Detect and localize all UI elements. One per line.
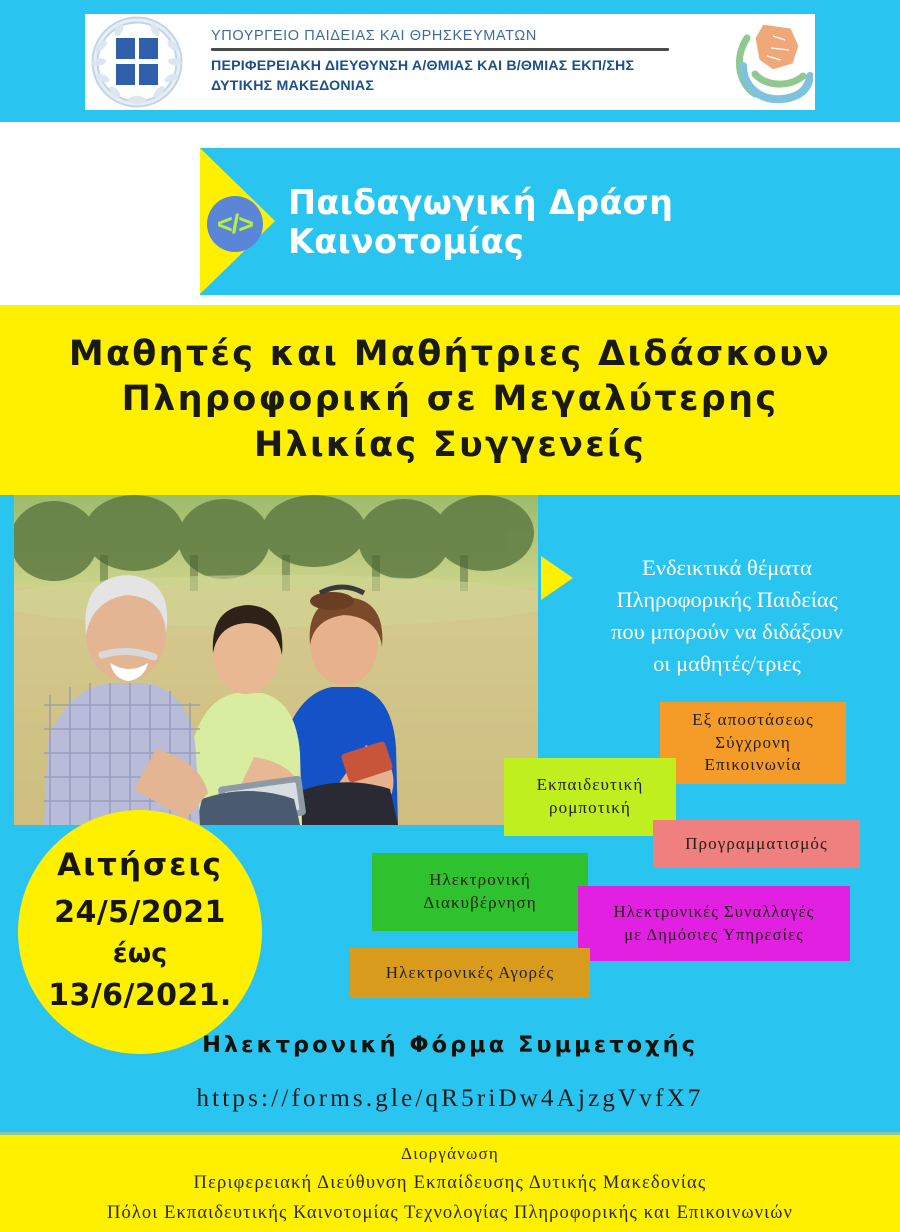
topic-label-line-2: ρομποτική: [537, 797, 644, 820]
footer-organizer-label: Διοργάνωση: [401, 1144, 499, 1164]
topic-box-e-government: Ηλεκτρονική Διακυβέρνηση: [372, 853, 588, 931]
topic-label-line-3: Επικοινωνία: [692, 754, 814, 777]
banner-title: Παιδαγωγική Δράση Καινοτομίας: [288, 148, 892, 295]
topic-label-line-1: Ηλεκτρονικές Αγορές: [386, 962, 554, 985]
topic-box-remote-communication: Εξ αποστάσεως Σύγχρονη Επικοινωνία: [660, 702, 846, 784]
greek-coat-of-arms-icon: [89, 16, 185, 108]
topic-label-line-2: Σύγχρονη: [692, 732, 814, 755]
topic-box-educational-robotics: Εκπαιδευτική ρομποτική: [504, 758, 676, 836]
topic-label-line-2: με Δημόσιες Υπηρεσίες: [614, 924, 815, 946]
applications-start-date: 24/5/2021: [54, 891, 226, 935]
footer-organizer-name: Περιφερειακή Διεύθυνση Εκπαίδευσης Δυτικ…: [194, 1173, 707, 1194]
header-card: ΥΠΟΥΡΓΕΙΟ ΠΑΙΔΕΙΑΣ ΚΑΙ ΘΡΗΣΚΕΥΜΑΤΩΝ ΠΕΡΙ…: [85, 14, 815, 110]
description-line-1: Ενδεικτικά θέματα: [560, 552, 894, 584]
applications-title: Αιτήσεις: [57, 847, 223, 883]
topic-label-line-1: Εκπαιδευτική: [537, 774, 644, 797]
applications-end-date: 13/6/2021.: [48, 974, 231, 1018]
description-line-2: Πληροφορικής Παιδείας: [560, 584, 894, 616]
footer-poles-name: Πόλοι Εκπαιδευτικής Καινοτομίας Τεχνολογ…: [107, 1203, 793, 1224]
form-url-link[interactable]: https://forms.gle/qR5riDw4AjzgVvfX7: [0, 1085, 900, 1113]
description-line-3: που μπορούν να διδάξουν: [560, 616, 894, 648]
topic-label-line-1: Εξ αποστάσεως: [692, 709, 814, 732]
main-title-block: Μαθητές και Μαθήτριες Διδάσκουν Πληροφορ…: [0, 305, 900, 495]
footer: Διοργάνωση Περιφερειακή Διεύθυνση Εκπαίδ…: [0, 1132, 900, 1232]
regional-directorate-line2: ΔΥΤΙΚΗΣ ΜΑΚΕΔΟΝΙΑΣ: [211, 77, 725, 96]
western-macedonia-region-logo-icon: [733, 16, 813, 108]
topic-box-e-markets: Ηλεκτρονικές Αγορές: [350, 948, 590, 998]
ministry-title: ΥΠΟΥΡΓΕΙΟ ΠΑΙΔΕΙΑΣ ΚΑΙ ΘΡΗΣΚΕΥΜΑΤΩΝ: [211, 28, 725, 44]
main-title-line-2: Πληροφορική σε Μεγαλύτερης: [122, 377, 779, 422]
topic-label-line-2: Διακυβέρνηση: [423, 892, 537, 915]
code-brackets-icon: </>: [207, 196, 263, 252]
applications-separator: έως: [113, 934, 168, 973]
topic-label-line-1: Ηλεκτρονικές Συναλλαγές: [614, 901, 815, 923]
description-line-4: οι μαθητές/τριες: [560, 648, 894, 680]
action-banner: </> Παιδαγωγική Δράση Καινοτομίας: [200, 148, 900, 295]
topic-label-line-1: Ηλεκτρονική: [423, 869, 537, 892]
topic-box-programming: Προγραμματισμός: [653, 820, 860, 868]
description-text: Ενδεικτικά θέματα Πληροφορικής Παιδείας …: [560, 552, 894, 680]
header-text-block: ΥΠΟΥΡΓΕΙΟ ΠΑΙΔΕΙΑΣ ΚΑΙ ΘΡΗΣΚΕΥΜΑΤΩΝ ΠΕΡΙ…: [185, 28, 733, 95]
topic-label-line-1: Προγραμματισμός: [685, 833, 828, 856]
family-photo: [14, 495, 538, 825]
main-title-line-3: Ηλικίας Συγγενείς: [254, 423, 646, 468]
applications-dates-circle: Αιτήσεις 24/5/2021 έως 13/6/2021.: [18, 810, 262, 1054]
regional-directorate-line1: ΠΕΡΙΦΕΡΕΙΑΚΗ ΔΙΕΥΘΥΝΣΗ Α/ΘΜΙΑΣ ΚΑΙ Β/ΘΜΙ…: [211, 57, 725, 76]
header-divider: [211, 48, 669, 51]
topic-box-e-transactions-public-services: Ηλεκτρονικές Συναλλαγές με Δημόσιες Υπηρ…: [578, 886, 850, 961]
main-title-line-1: Μαθητές και Μαθήτριες Διδάσκουν: [69, 332, 831, 377]
